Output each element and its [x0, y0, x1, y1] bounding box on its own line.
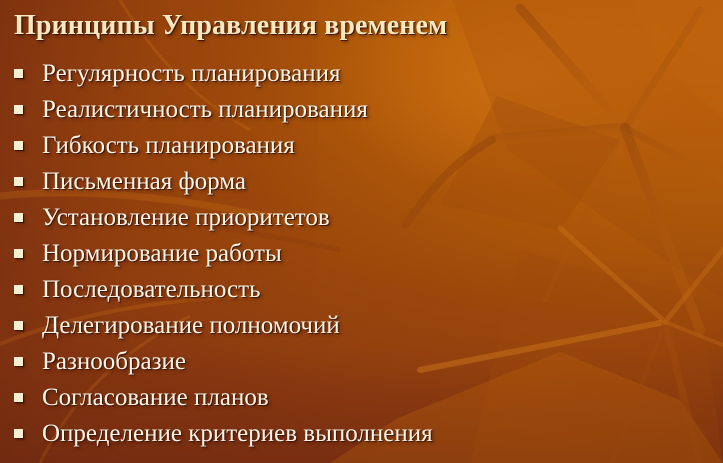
- list-item: Регулярность планирования: [0, 56, 723, 92]
- list-item: Письменная форма: [0, 164, 723, 200]
- list-item-label: Письменная форма: [42, 167, 246, 197]
- square-bullet-icon: [14, 285, 23, 294]
- list-item-label: Гибкость планирования: [42, 131, 295, 161]
- square-bullet-icon: [14, 357, 23, 366]
- square-bullet-icon: [14, 429, 23, 438]
- list-item: Установление приоритетов: [0, 200, 723, 236]
- list-item: Согласование планов: [0, 380, 723, 416]
- square-bullet-icon: [14, 213, 23, 222]
- list-item: Нормирование работы: [0, 236, 723, 272]
- square-bullet-icon: [14, 321, 23, 330]
- square-bullet-icon: [14, 105, 23, 114]
- list-item: Последовательность: [0, 272, 723, 308]
- list-item-label: Согласование планов: [42, 383, 269, 413]
- list-item: Реалистичность планирования: [0, 92, 723, 128]
- list-item-label: Нормирование работы: [42, 239, 282, 269]
- list-item-label: Регулярность планирования: [42, 59, 341, 89]
- list-item-label: Последовательность: [42, 275, 260, 305]
- list-item-label: Определение критериев выполнения: [42, 419, 433, 449]
- principles-bullet-list: Регулярность планирования Реалистичность…: [0, 56, 723, 452]
- list-item-label: Разнообразие: [42, 347, 186, 377]
- square-bullet-icon: [14, 69, 23, 78]
- square-bullet-icon: [14, 177, 23, 186]
- list-item: Разнообразие: [0, 344, 723, 380]
- slide-content: Принципы Управления временем Регулярност…: [0, 0, 723, 463]
- list-item-label: Реалистичность планирования: [42, 95, 368, 125]
- presentation-slide: Принципы Управления временем Регулярност…: [0, 0, 723, 463]
- square-bullet-icon: [14, 141, 23, 150]
- list-item-label: Установление приоритетов: [42, 203, 330, 233]
- list-item: Делегирование полномочий: [0, 308, 723, 344]
- slide-title: Принципы Управления временем: [14, 9, 447, 43]
- square-bullet-icon: [14, 249, 23, 258]
- list-item-label: Делегирование полномочий: [42, 311, 340, 341]
- list-item: Гибкость планирования: [0, 128, 723, 164]
- square-bullet-icon: [14, 393, 23, 402]
- list-item: Определение критериев выполнения: [0, 416, 723, 452]
